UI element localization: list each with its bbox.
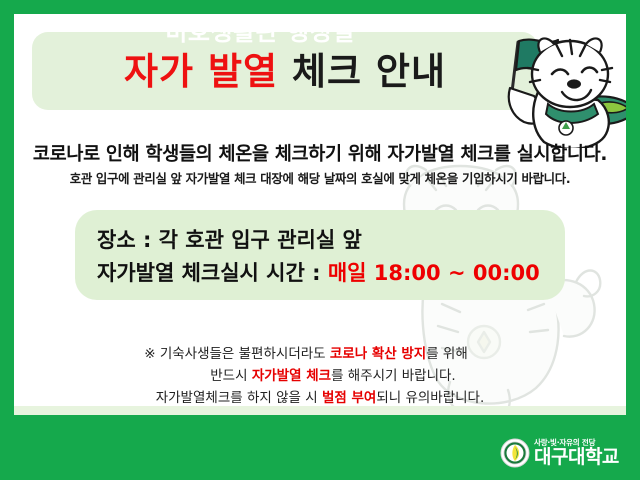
info-location-line: 장소 : 각 호관 입구 관리실 앞 — [97, 224, 565, 257]
note-2-pre: 반드시 — [210, 368, 252, 384]
page-title: 자가 발열 체크 안내 — [124, 53, 446, 90]
note-1-highlight: 코로나 확산 방지 — [330, 346, 426, 362]
note-line-2: 반드시 자가발열 체크를 해주시기 바랍니다. — [14, 366, 626, 388]
info-time-line: 자가발열 체크실시 시간 : 매일 18:00 ~ 00:00 — [97, 257, 565, 290]
info-box: 장소 : 각 호관 입구 관리실 앞 자가발열 체크실시 시간 : 매일 18:… — [75, 210, 565, 300]
university-emblem-icon — [500, 438, 530, 468]
title-red-part: 자가 발열 — [124, 50, 278, 93]
university-name: 대구대학교 — [534, 448, 619, 467]
note-2-highlight: 자가발열 체크 — [252, 368, 331, 384]
note-3-highlight: 벌점 부여 — [322, 390, 376, 406]
footer-divider — [14, 406, 626, 415]
note-1-post: 를 위해 — [426, 346, 468, 362]
note-line-1: ※ 기숙사생들은 불편하시더라도 코로나 확산 방지를 위해 — [14, 344, 626, 366]
university-tagline: 사랑·빛·자유의 전당 — [534, 439, 619, 447]
university-text-block: 사랑·빛·자유의 전당 대구대학교 — [534, 439, 619, 468]
university-logo: 사랑·빛·자유의 전당 대구대학교 — [500, 432, 638, 474]
poster-root: 자가 발열 체크 안내 — [0, 0, 640, 480]
info-time-value: 매일 18:00 ~ 00:00 — [328, 261, 540, 285]
info-time-label: 자가발열 체크실시 시간 : — [97, 261, 328, 285]
footer-office-name: 비호생활관 행정실 — [0, 12, 640, 47]
title-black-part: 체크 안내 — [292, 50, 446, 93]
note-1-pre: ※ 기숙사생들은 불편하시더라도 — [144, 346, 330, 362]
note-3-post: 되니 유의바랍니다. — [376, 390, 484, 406]
note-3-pre: 자가발열체크를 하지 않을 시 — [156, 390, 322, 406]
tiger-mascot-with-flag-icon — [494, 30, 626, 148]
headline-text: 코로나로 인해 학생들의 체온을 체크하기 위해 자가발열 체크를 실시합니다. — [14, 140, 626, 166]
subheadline-text: 호관 입구에 관리실 앞 자가발열 체크 대장에 해당 날짜의 호실에 맞게 체… — [14, 169, 626, 187]
note-2-post: 를 해주시기 바랍니다. — [331, 368, 456, 384]
poster-body: 자가 발열 체크 안내 — [14, 14, 626, 414]
notes-block: ※ 기숙사생들은 불편하시더라도 코로나 확산 방지를 위해 반드시 자가발열 … — [14, 344, 626, 410]
